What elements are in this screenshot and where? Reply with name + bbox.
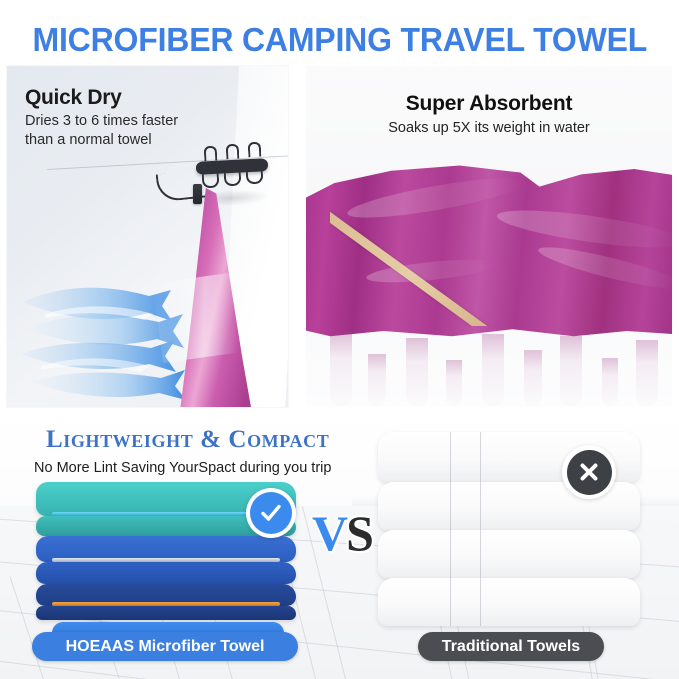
towel-clip-icon — [193, 184, 202, 204]
super-absorbent-heading: Super Absorbent — [306, 92, 672, 116]
quick-dry-subtext-line2: than a normal towel — [25, 132, 152, 148]
water-drips — [306, 316, 672, 406]
quick-dry-subtext-line1: Dries 3 to 6 times faster — [25, 113, 178, 129]
check-circle-icon — [246, 488, 296, 538]
traditional-label-pill: Traditional Towels — [418, 632, 604, 661]
panel-comparison: Lightweight & Compact No More Lint Savin… — [0, 410, 679, 679]
traditional-label-text: Traditional Towels — [442, 638, 580, 656]
hoeaas-label-text: HOEAAS Microfiber Towel — [66, 638, 265, 656]
towel-fold-navy-lower — [36, 606, 296, 620]
versus-s: S — [346, 505, 372, 561]
comparison-heading: Lightweight & Compact — [46, 426, 329, 454]
versus-label: VS — [312, 502, 380, 566]
versus-v: V — [312, 505, 346, 561]
towel-fold-blue — [36, 562, 296, 584]
white-towel-fold-4 — [378, 578, 640, 626]
hoeaas-label-pill: HOEAAS Microfiber Towel — [32, 632, 298, 661]
white-towel-fold-3 — [378, 530, 640, 578]
x-mark-icon — [577, 460, 601, 484]
check-mark-icon — [259, 501, 283, 525]
panel-super-absorbent: Super Absorbent Soaks up 5X its weight i… — [306, 66, 672, 407]
product-infographic: MICROFIBER CAMPING TRAVEL TOWEL Quick Dr… — [0, 0, 679, 679]
comparison-subtext: No More Lint Saving YourSpact during you… — [34, 460, 331, 476]
panel-quick-dry: Quick Dry Dries 3 to 6 times faster than… — [7, 66, 288, 407]
page-title: MICROFIBER CAMPING TRAVEL TOWEL — [32, 21, 647, 59]
page-title-bar: MICROFIBER CAMPING TRAVEL TOWEL — [0, 16, 679, 64]
super-absorbent-subtext: Soaks up 5X its weight in water — [306, 120, 672, 136]
wet-twisted-towel — [306, 162, 672, 338]
quick-dry-heading: Quick Dry — [25, 86, 122, 110]
x-circle-icon — [562, 445, 616, 499]
